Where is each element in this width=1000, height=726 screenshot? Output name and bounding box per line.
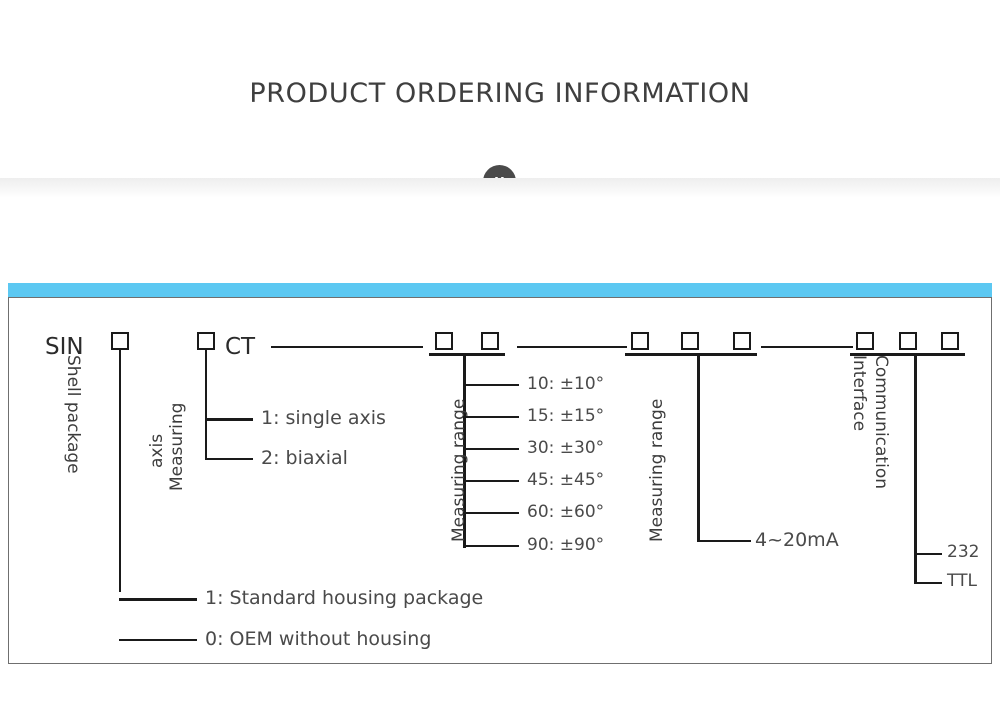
code-box-comm-1[interactable] xyxy=(856,332,874,350)
option-comm-232: 232 xyxy=(947,544,979,561)
connector-comm-ttl xyxy=(914,582,942,584)
connector-ct-to-range xyxy=(271,346,423,348)
category-label-comm-line1: Communication xyxy=(872,355,889,489)
category-label-measuring-range-angle: Measuring range xyxy=(451,399,468,542)
code-box-range-output-3[interactable] xyxy=(733,332,751,350)
category-label-measuring-axis-line1: Measuring xyxy=(169,403,186,491)
page-title: PRODUCT ORDERING INFORMATION xyxy=(0,78,1000,109)
option-axis-biaxial: 2: biaxial xyxy=(261,449,348,468)
code-box-range-output-2[interactable] xyxy=(681,332,699,350)
connector-range-angle-to-next xyxy=(517,346,627,348)
code-box-range-angle-1[interactable] xyxy=(435,332,453,350)
option-shell-oem-no-housing: 0: OEM without housing xyxy=(205,630,431,649)
option-range-15: 15: ±15° xyxy=(527,408,604,425)
category-label-comm-line2: Interface xyxy=(850,355,867,431)
model-code-label: CT xyxy=(225,336,255,359)
connector-output-4-20ma xyxy=(697,540,751,542)
code-box-measuring-axis[interactable] xyxy=(197,332,215,350)
category-label-shell-package: Shell package xyxy=(64,355,81,474)
header-divider-shadow xyxy=(0,178,1000,198)
option-shell-standard-housing: 1: Standard housing package xyxy=(205,589,483,608)
page-header: PRODUCT ORDERING INFORMATION v xyxy=(0,0,1000,196)
option-output-4-20ma: 4~20mA xyxy=(755,531,839,550)
connector-range-output-to-comm xyxy=(761,346,853,348)
code-box-range-output-1[interactable] xyxy=(631,332,649,350)
option-comm-ttl: TTL xyxy=(947,573,977,590)
code-box-comm-3[interactable] xyxy=(941,332,959,350)
option-axis-single: 1: single axis xyxy=(261,409,386,428)
connector-range-90 xyxy=(463,545,519,547)
underline-range-angle xyxy=(429,353,505,356)
connector-range-output-vertical xyxy=(697,356,700,541)
category-label-measuring-range-output: Measuring range xyxy=(649,399,666,542)
option-range-90: 90: ±90° xyxy=(527,537,604,554)
connector-comm-232 xyxy=(914,553,942,555)
connector-range-10 xyxy=(463,384,519,386)
underline-range-output xyxy=(625,353,757,356)
category-label-measuring-axis-line2: axis xyxy=(149,434,166,468)
accent-bar xyxy=(8,283,992,297)
connector-shell-option-0 xyxy=(119,639,197,641)
code-box-comm-2[interactable] xyxy=(899,332,917,350)
connector-axis-vertical xyxy=(205,350,207,460)
option-range-10: 10: ±10° xyxy=(527,376,604,393)
connector-range-30 xyxy=(463,448,519,450)
connector-shell-vertical xyxy=(119,350,121,592)
option-range-30: 30: ±30° xyxy=(527,440,604,457)
connector-axis-option-1 xyxy=(205,418,253,421)
connector-comm-vertical xyxy=(914,356,917,583)
connector-shell-option-1 xyxy=(119,598,197,601)
option-range-60: 60: ±60° xyxy=(527,504,604,521)
connector-range-45 xyxy=(463,480,519,482)
connector-range-15 xyxy=(463,416,519,418)
ordering-code-diagram: SIN Shell package 1: Standard housing pa… xyxy=(8,297,992,664)
option-range-45: 45: ±45° xyxy=(527,472,604,489)
code-box-range-angle-2[interactable] xyxy=(481,332,499,350)
connector-range-60 xyxy=(463,512,519,514)
code-box-shell-package[interactable] xyxy=(111,332,129,350)
connector-axis-option-2 xyxy=(205,458,253,460)
